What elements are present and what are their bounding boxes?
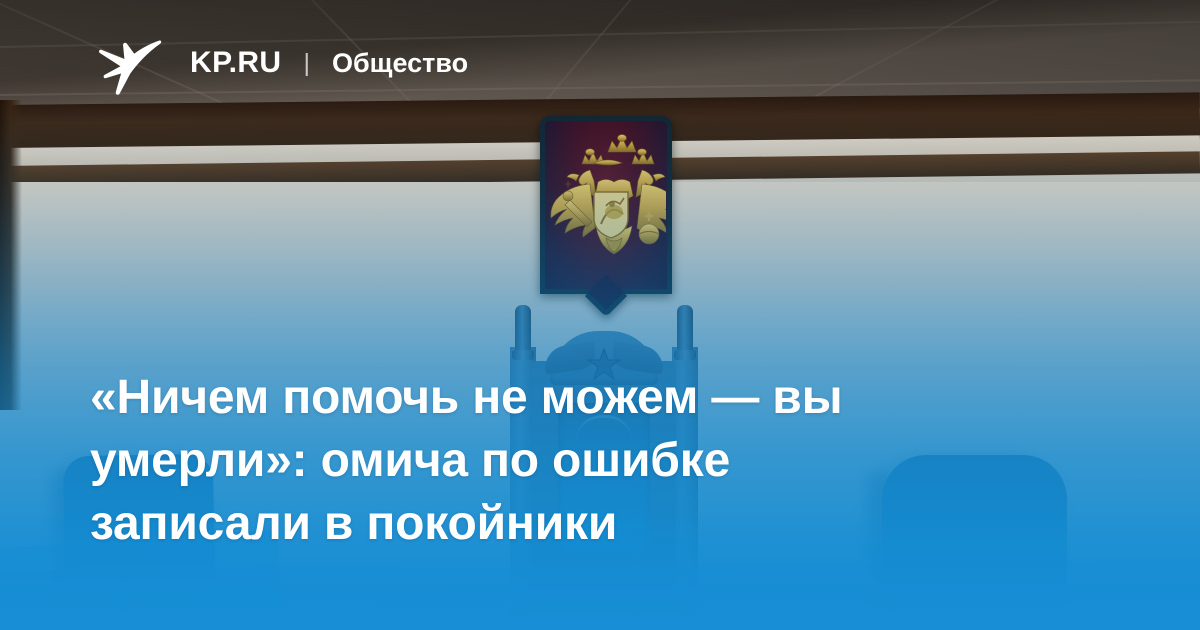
double-headed-eagle-icon	[546, 130, 666, 280]
headline: «Ничем помочь не можем — вы умерли»: оми…	[90, 366, 1050, 555]
social-share-card: KP.RU | Общество «Ничем помочь не можем …	[0, 0, 1200, 630]
brand-name[interactable]: KP.RU	[190, 48, 281, 78]
section-label[interactable]: Общество	[332, 50, 468, 77]
header: KP.RU | Общество	[0, 0, 468, 96]
desk-near-surface	[0, 585, 1200, 630]
brand-block: KP.RU | Общество	[190, 48, 468, 78]
russian-coat-of-arms	[540, 116, 672, 294]
headline-line-2: умерли»: омича по ошибке	[90, 429, 1050, 492]
headline-line-1: «Ничем помочь не можем — вы	[90, 366, 1050, 429]
kp-swallow-bird-icon[interactable]	[96, 30, 162, 96]
headline-line-3: записали в покойники	[90, 492, 1050, 555]
wall-corner-shadow	[0, 100, 22, 410]
chair-finial-left	[515, 305, 531, 353]
chair-finial-right	[677, 305, 693, 353]
brand-separator: |	[303, 51, 310, 76]
